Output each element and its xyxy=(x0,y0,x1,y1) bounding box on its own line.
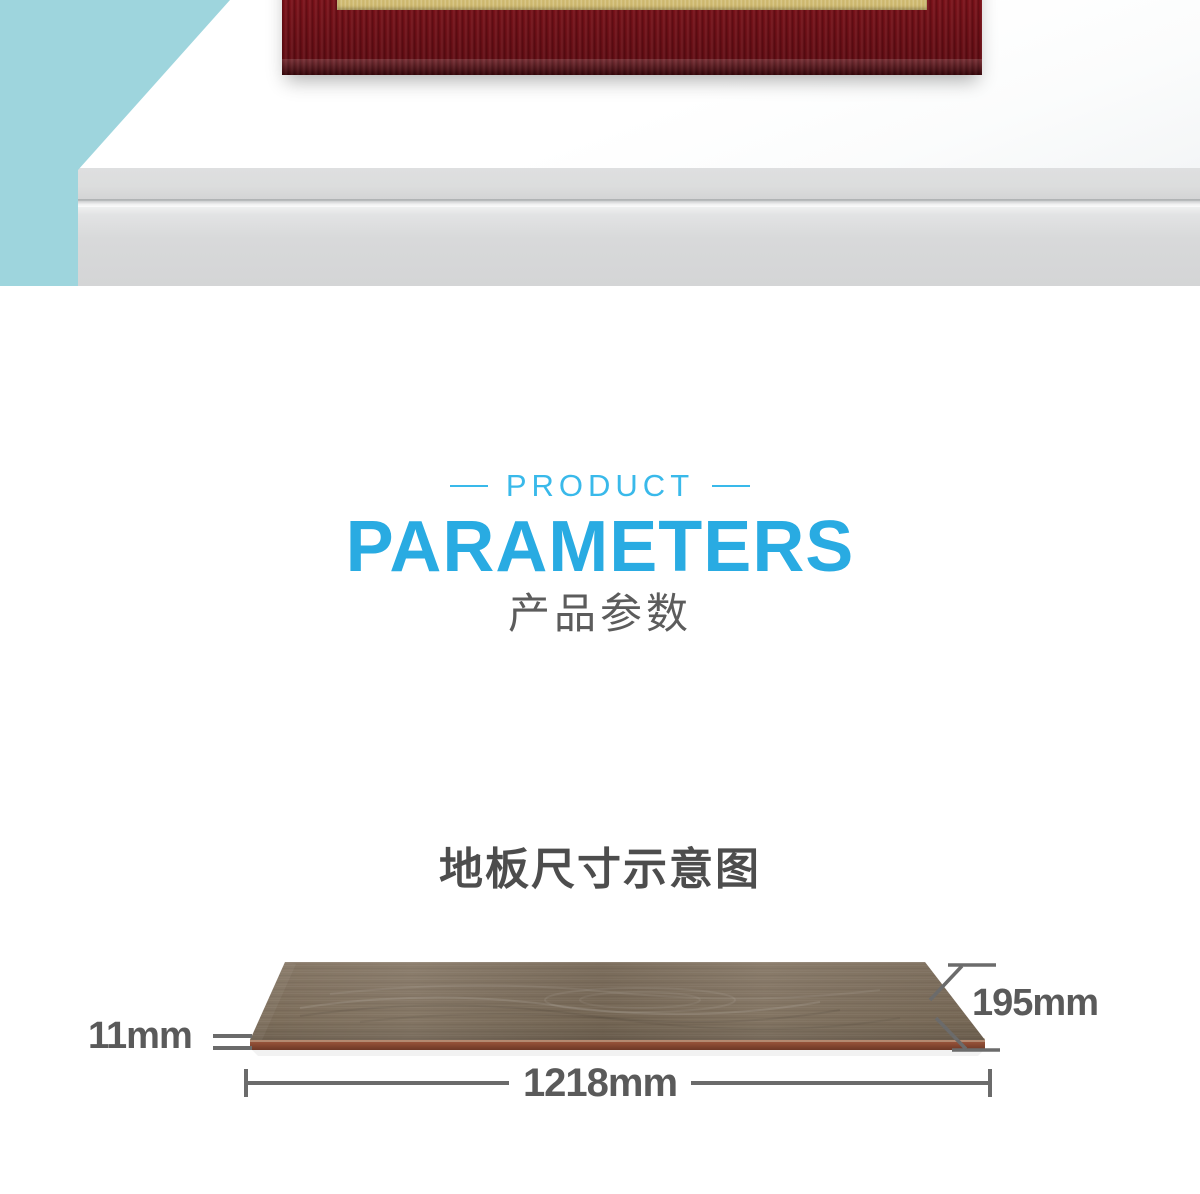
wooden-award-plaque xyxy=(282,0,982,75)
page-subtitle-cn: 产品参数 xyxy=(0,589,1200,639)
eyebrow-dash-right xyxy=(712,485,750,487)
eyebrow-row: PRODUCT xyxy=(0,470,1200,501)
teal-wall xyxy=(0,0,78,286)
cabinet-top-edge xyxy=(78,168,1200,201)
cabinet-drawer-front xyxy=(78,207,1200,286)
eyebrow-label: PRODUCT xyxy=(506,470,694,501)
width-label: 195mm xyxy=(972,982,1098,1025)
length-label-text: 1218mm xyxy=(509,1061,691,1105)
wall-corner-taper xyxy=(78,0,230,170)
interior-scene-photo xyxy=(0,0,1200,286)
plaque-gold-panel xyxy=(337,0,927,10)
length-label: 1218mm xyxy=(0,1061,1200,1106)
eyebrow-dash-left xyxy=(450,485,488,487)
thickness-label: 11mm xyxy=(88,1015,192,1058)
page-title: PARAMETERS xyxy=(0,509,1200,587)
diagram-section-title: 地板尺寸示意图 xyxy=(0,833,1200,897)
plaque-bottom-bevel xyxy=(282,59,982,75)
product-parameters-heading: PRODUCT PARAMETERS 产品参数 xyxy=(0,470,1200,639)
